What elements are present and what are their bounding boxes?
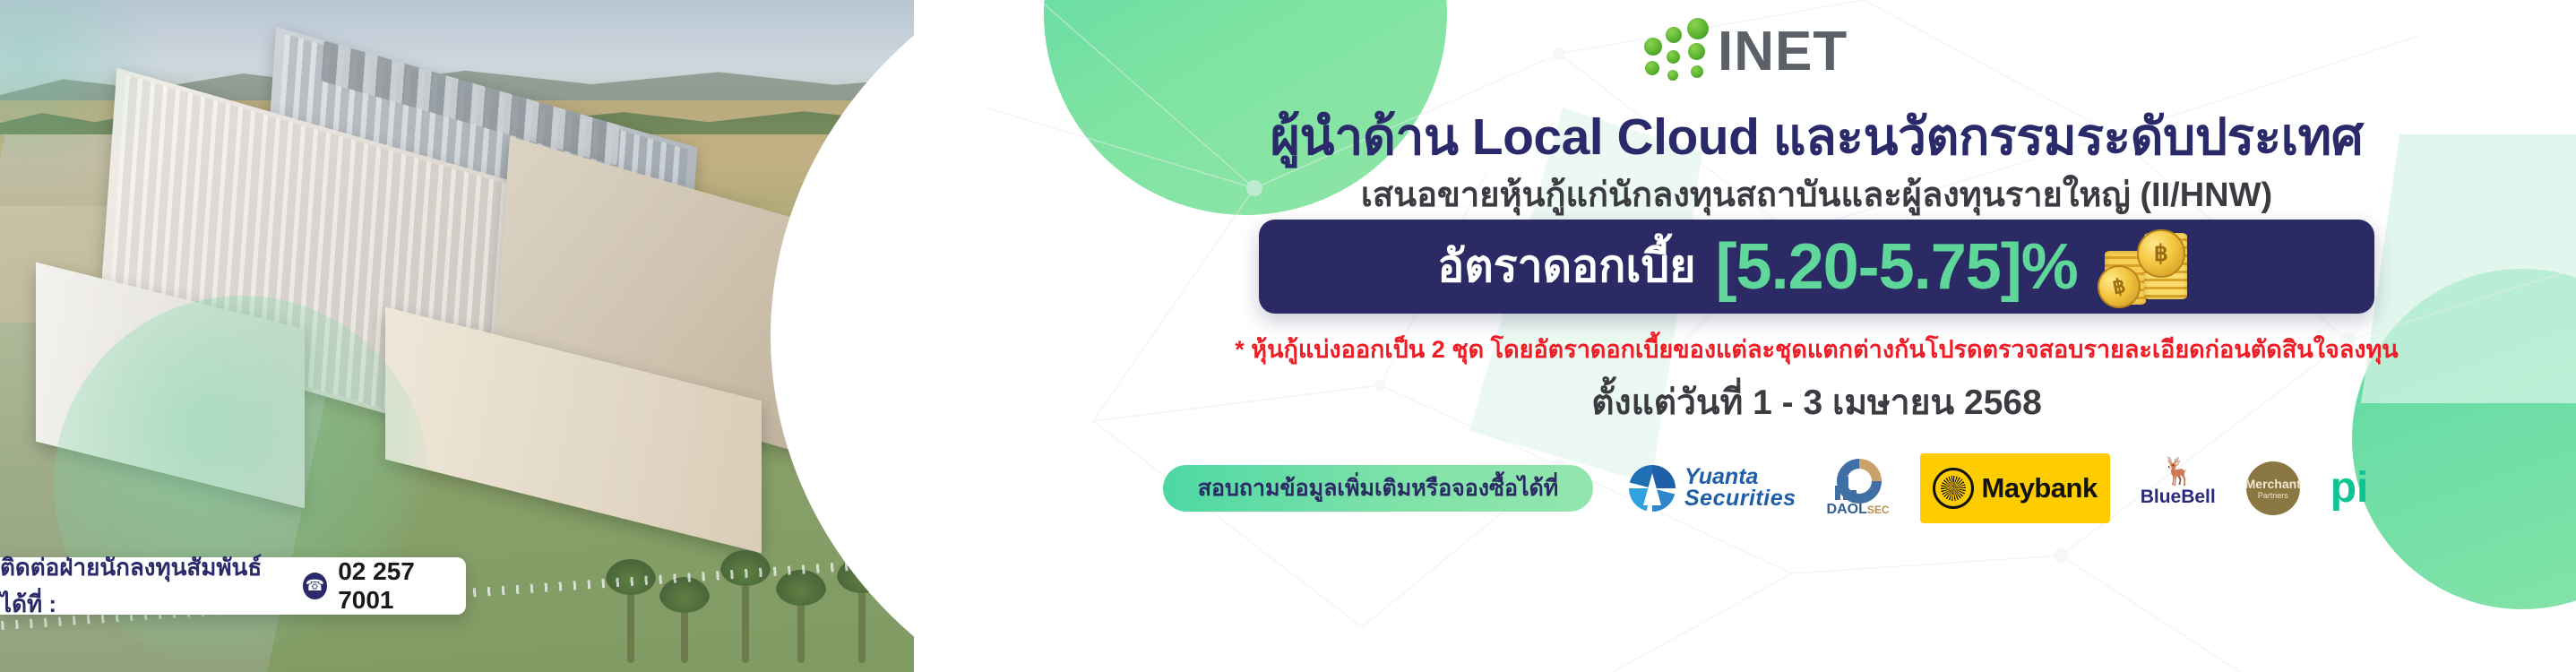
contact-phone-number[interactable]: 02 257 7001 [338,557,466,615]
partner-name-line2: Securities [1684,488,1796,510]
merchant-circle-icon: Merchant Partners [2246,461,2300,515]
page-title: ผู้นำด้าน Local Cloud และนวัตกรรมระดับปร… [1057,97,2576,177]
footer-row: สอบถามข้อมูลเพิ่มเติมหรือจองซื้อได้ที่ Y… [1057,448,2576,529]
partner-name-line2: SEC [1867,504,1890,516]
pi-wordmark-icon: pi [2330,467,2369,510]
phone-icon: ☎ [303,573,328,599]
gold-coin-stack-icon: ฿ ฿ [2098,226,2196,308]
inet-dots-logo-icon [1644,18,1714,86]
partner-name-line1: Maybank [1982,472,2098,504]
partner-logo-daol[interactable]: DAOLSEC [1827,459,1890,518]
inet-logo: INET [1644,16,1940,88]
interest-rate-box: อัตราดอกเบี้ย [5.20-5.75]% ฿ ฿ [1259,220,2374,314]
partner-name-line2: Partners [2258,491,2288,500]
interest-rate-label: อัตราดอกเบี้ย [1437,231,1695,302]
partner-logo-bluebell[interactable]: 🦌 BlueBell [2141,459,2216,518]
maybank-tiger-icon [1933,468,1974,509]
daol-donut-icon [1833,459,1883,500]
offering-dates: ตั้งแต่วันที่ 1 - 3 เมษายน 2568 [1057,375,2576,430]
coin-symbol: ฿ [2137,229,2185,278]
partner-name-line1: Merchant [2245,477,2301,491]
partner-logo-pi[interactable]: pi [2330,459,2369,518]
partner-name-line1: DAOL [1827,502,1867,517]
partner-name-line1: BlueBell [2141,487,2216,508]
partner-logos: Yuanta Securities DAOLSEC Maybank [1629,453,2368,523]
page-subtitle: เสนอขายหุ้นกู้แก่นักลงทุนสถาบันและผู้ลงท… [1057,167,2576,221]
partner-logo-yuanta[interactable]: Yuanta Securities [1629,459,1796,518]
promotional-banner: INET ผู้นำด้าน Local Cloud และนวัตกรรมระ… [0,0,2576,672]
yuanta-star-icon [1629,465,1676,512]
investor-relations-contact-card[interactable]: ติดต่อฝ่ายนักลงทุนสัมพันธ์ได้ที่ : ☎ 02 … [0,557,466,615]
inet-wordmark: INET [1718,24,1848,80]
bluebell-deer-icon: 🦌 [2161,459,2194,486]
partner-logo-merchant-partners[interactable]: Merchant Partners [2246,459,2300,518]
contact-cta-button[interactable]: สอบถามข้อมูลเพิ่มเติมหรือจองซื้อได้ที่ [1163,465,1593,512]
interest-rate-value: [5.20-5.75]% [1716,235,2078,299]
partner-logo-maybank[interactable]: Maybank [1920,453,2110,523]
contact-label: ติดต่อฝ่ายนักลงทุนสัมพันธ์ได้ที่ : [0,549,292,623]
banner-content: INET ผู้นำด้าน Local Cloud และนวัตกรรมระ… [1057,0,2576,672]
disclaimer-text: * หุ้นกู้แบ่งออกเป็น 2 ชุด โดยอัตราดอกเบ… [1057,330,2576,368]
